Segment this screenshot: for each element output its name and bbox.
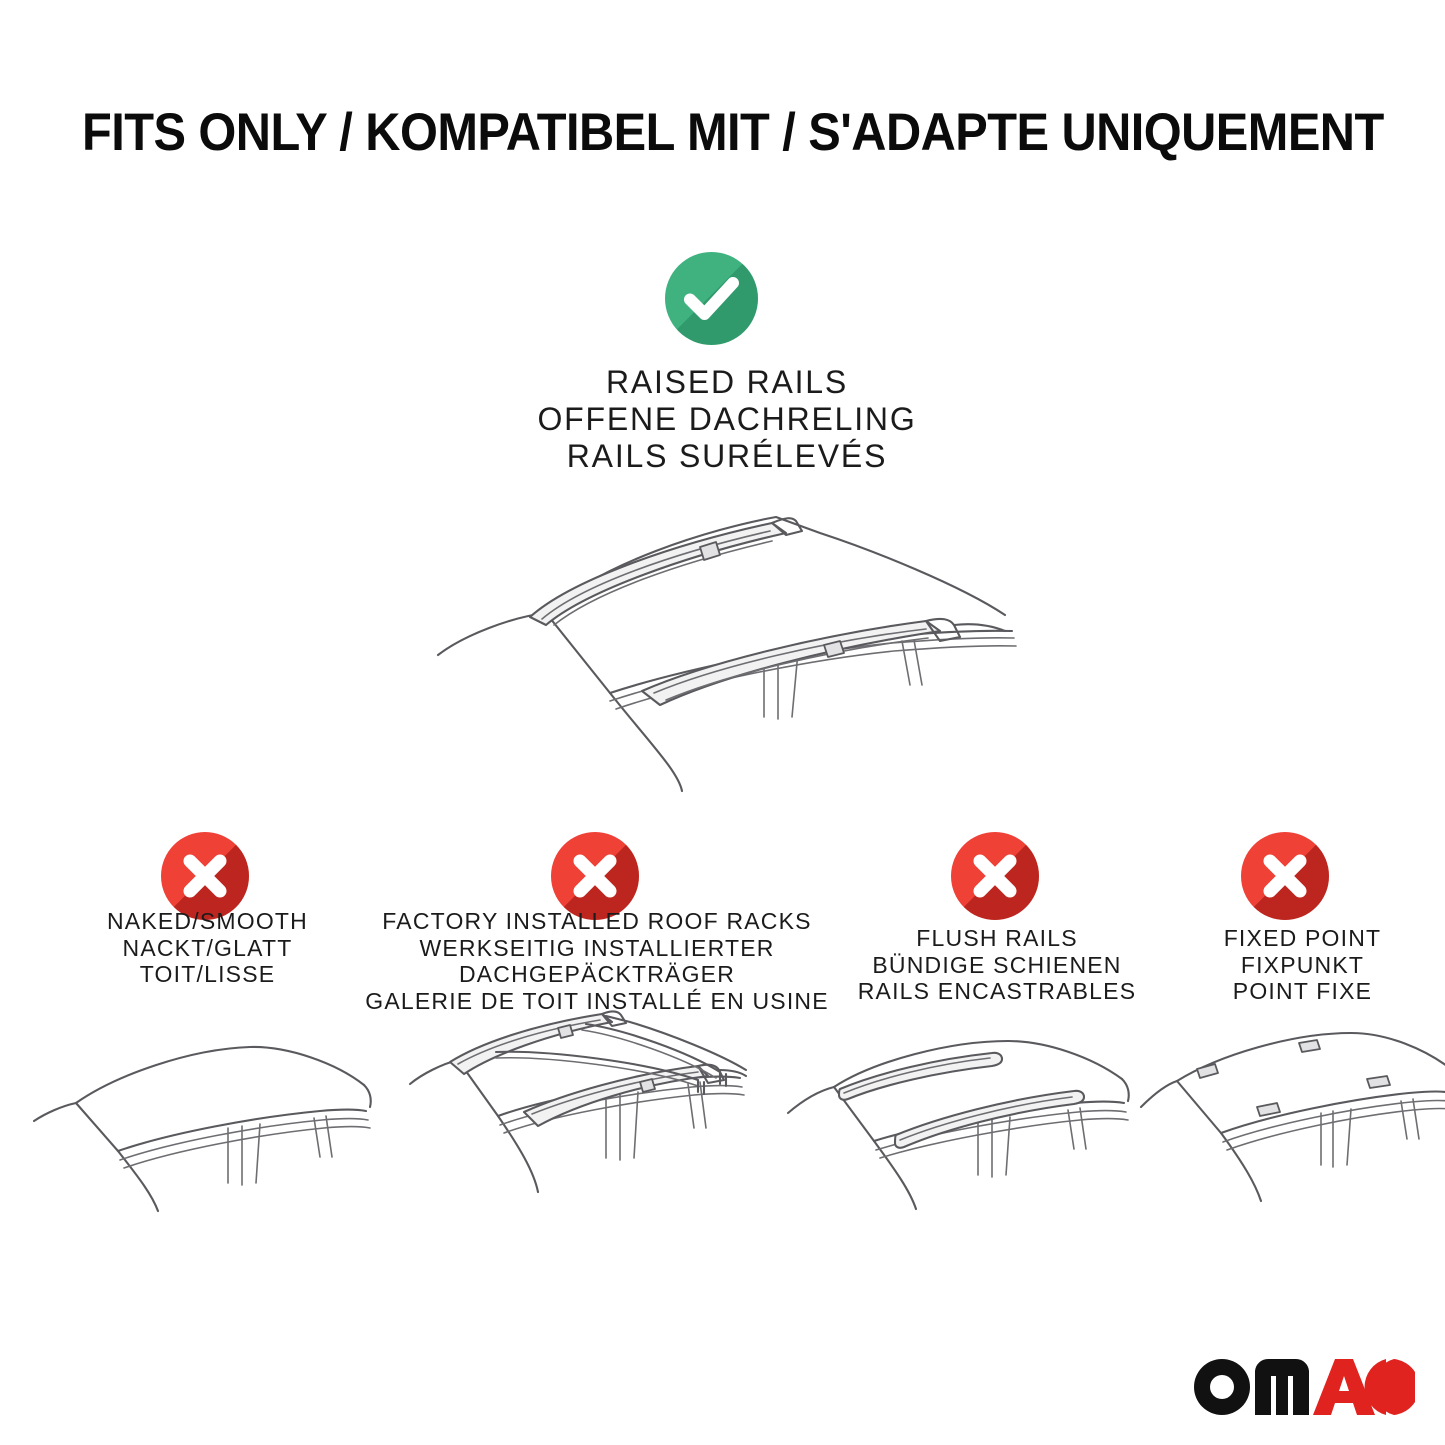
incompatible-label-en: FIXED POINT bbox=[1170, 925, 1435, 952]
red-x-circle-icon bbox=[951, 832, 1039, 920]
green-check-circle-icon bbox=[665, 252, 758, 345]
red-x-circle-icon bbox=[161, 832, 249, 920]
incompatible-label-en: NAKED/SMOOTH bbox=[35, 908, 380, 935]
x-mark-glyph bbox=[551, 832, 639, 920]
logo-letter-o bbox=[1194, 1359, 1250, 1415]
incompatible-label-en: FLUSH RAILS bbox=[822, 925, 1172, 952]
car-roof-fixed-point-illustration bbox=[1135, 1015, 1445, 1230]
incompatible-label-en: FACTORY INSTALLED ROOF RACKS bbox=[362, 908, 832, 935]
check-mark-glyph bbox=[665, 252, 758, 345]
incompatible-label-de2: DACHGEPÄCKTRÄGER bbox=[362, 961, 832, 988]
compatible-caption: RAISED RAILS OFFENE DACHRELING RAILS SUR… bbox=[402, 364, 1052, 475]
incompatible-caption-flush-rails: FLUSH RAILS BÜNDIGE SCHIENEN RAILS ENCAS… bbox=[822, 925, 1172, 1005]
logo-letter-c bbox=[1365, 1359, 1415, 1415]
car-roof-raised-rails-illustration bbox=[420, 495, 1050, 795]
infographic-page: FITS ONLY / KOMPATIBEL MIT / S'ADAPTE UN… bbox=[0, 0, 1445, 1445]
page-title: FITS ONLY / KOMPATIBEL MIT / S'ADAPTE UN… bbox=[82, 103, 1269, 163]
incompatible-label-de: WERKSEITIG INSTALLIERTER bbox=[362, 935, 832, 962]
incompatible-label-de: FIXPUNKT bbox=[1170, 952, 1435, 979]
x-mark-glyph bbox=[951, 832, 1039, 920]
car-roof-naked-smooth-illustration bbox=[20, 1015, 390, 1230]
incompatible-caption-fixed-point: FIXED POINT FIXPUNKT POINT FIXE bbox=[1170, 925, 1435, 1005]
compatible-label-en: RAISED RAILS bbox=[402, 364, 1052, 401]
incompatible-caption-naked-smooth: NAKED/SMOOTH NACKT/GLATT TOIT/LISSE bbox=[35, 908, 380, 988]
red-x-circle-icon bbox=[1241, 832, 1329, 920]
incompatible-label-fr: POINT FIXE bbox=[1170, 978, 1435, 1005]
incompatible-label-de: NACKT/GLATT bbox=[35, 935, 380, 962]
compatible-label-fr: RAILS SURÉLEVÉS bbox=[402, 438, 1052, 475]
compatible-label-de: OFFENE DACHRELING bbox=[402, 401, 1052, 438]
incompatible-caption-factory-racks: FACTORY INSTALLED ROOF RACKS WERKSEITIG … bbox=[362, 908, 832, 1014]
logo-letter-m bbox=[1255, 1359, 1309, 1415]
car-roof-flush-rails-illustration bbox=[778, 1015, 1148, 1230]
car-roof-factory-roof-racks-illustration bbox=[398, 1008, 768, 1230]
incompatible-label-de: BÜNDIGE SCHIENEN bbox=[822, 952, 1172, 979]
incompatible-label-fr: TOIT/LISSE bbox=[35, 961, 380, 988]
red-x-circle-icon bbox=[551, 832, 639, 920]
x-mark-glyph bbox=[1241, 832, 1329, 920]
incompatible-label-fr: RAILS ENCASTRABLES bbox=[822, 978, 1172, 1005]
omac-logo bbox=[1193, 1358, 1415, 1416]
x-mark-glyph bbox=[161, 832, 249, 920]
